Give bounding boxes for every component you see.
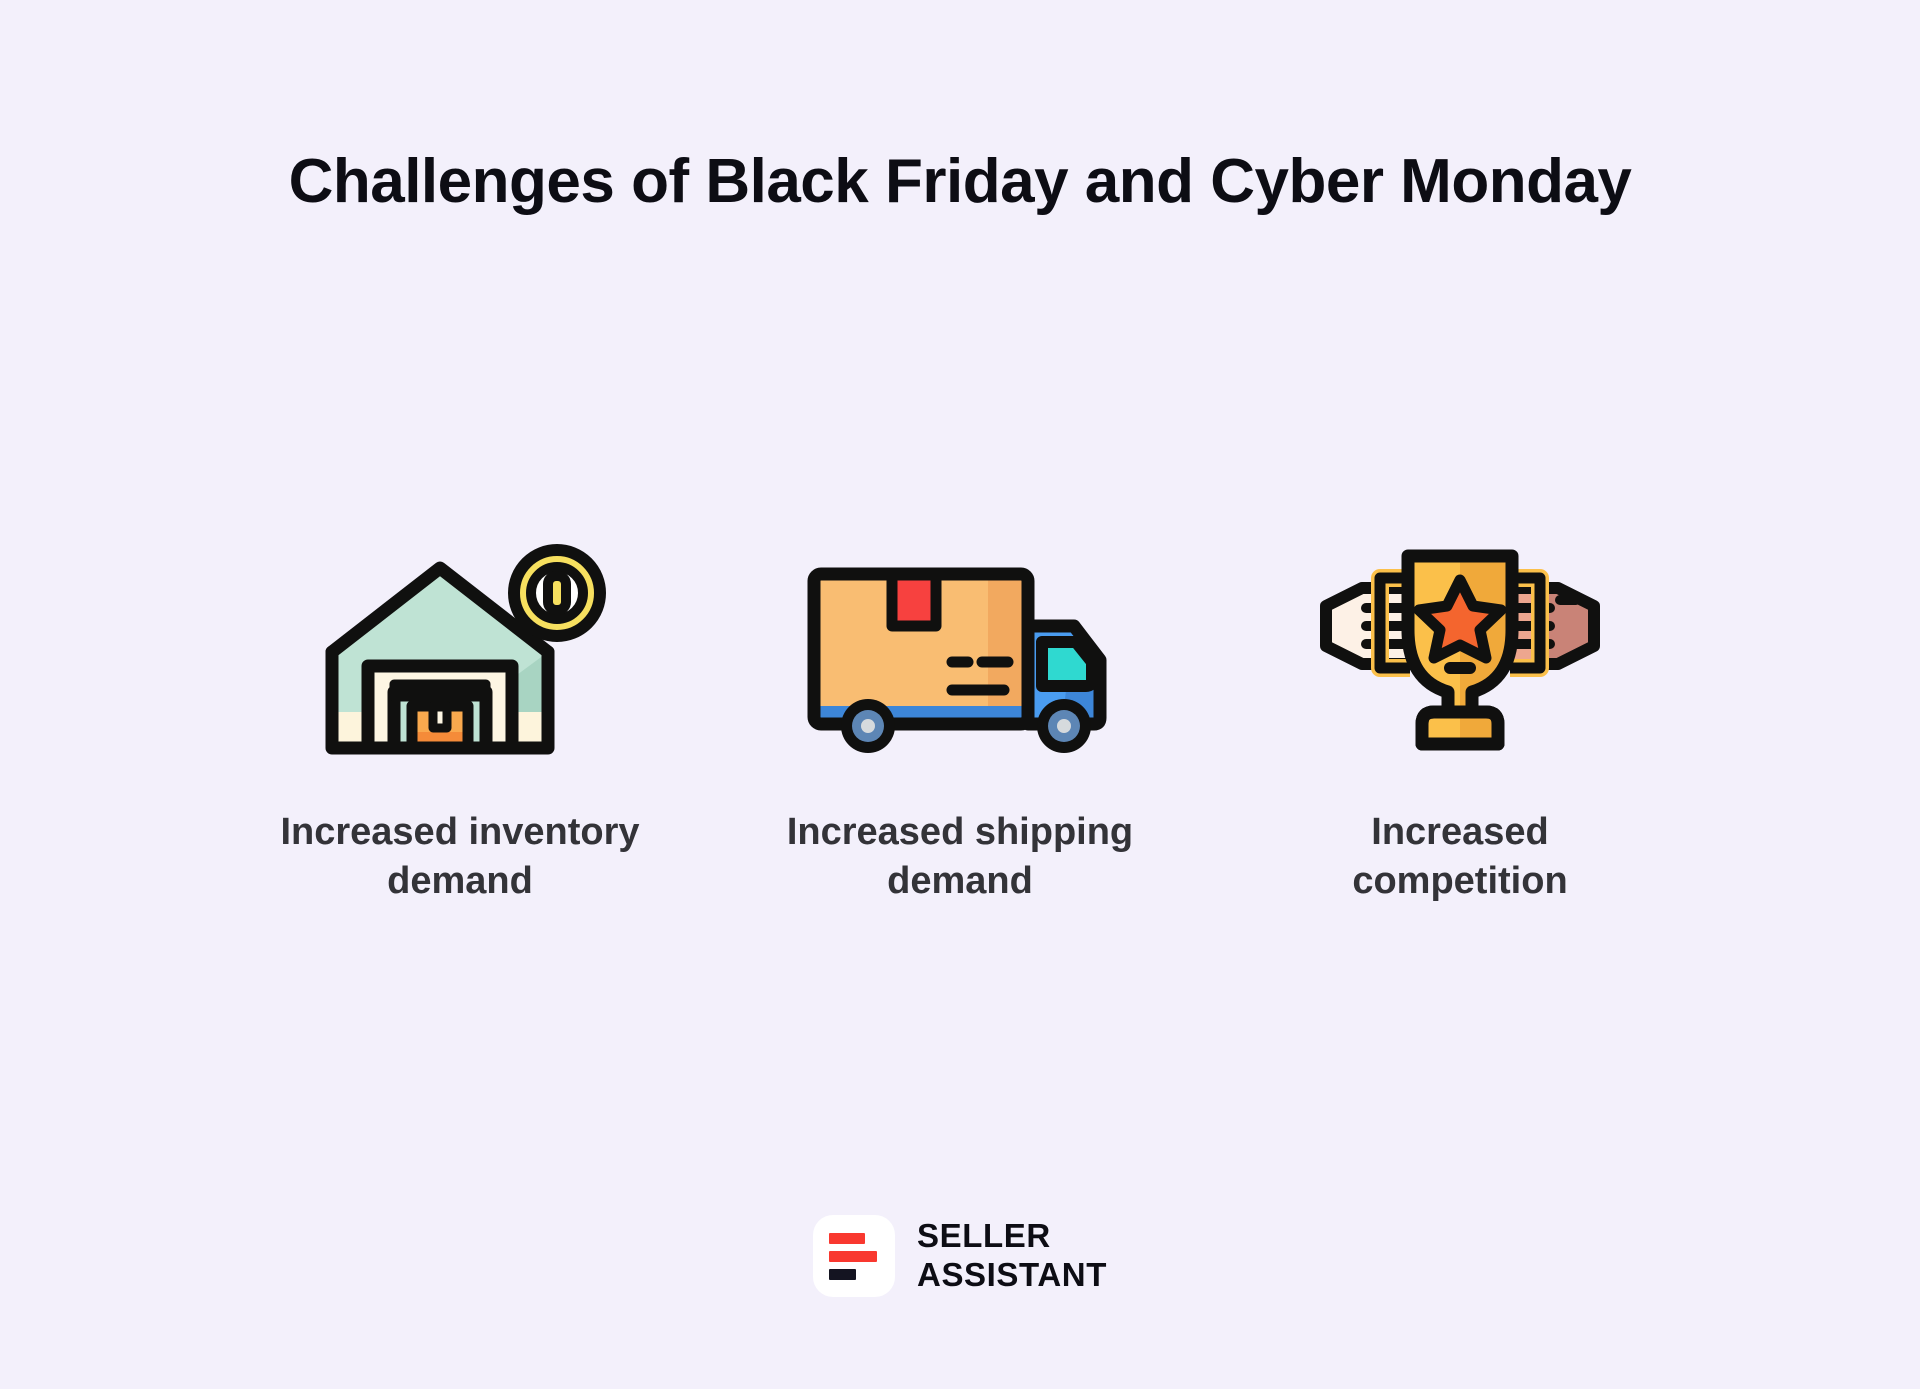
page-title: Challenges of Black Friday and Cyber Mon… — [0, 148, 1920, 216]
warehouse-coin-icon — [310, 540, 610, 760]
card-label-line2: competition — [1352, 860, 1567, 902]
cards-row: Increased inventory demand — [0, 540, 1920, 907]
logo-bar-top — [829, 1233, 865, 1244]
brand-name-line2: ASSISTANT — [917, 1256, 1107, 1295]
brand-footer: SELLER ASSISTANT — [0, 1215, 1920, 1297]
card-label-line2: demand — [387, 860, 533, 902]
logo-bar-middle — [829, 1251, 877, 1262]
card-label: Increased inventory demand — [280, 808, 639, 907]
logo-bar-bottom — [829, 1269, 856, 1280]
card-increased-inventory-demand: Increased inventory demand — [210, 540, 710, 907]
card-label: Increased shipping demand — [787, 808, 1133, 907]
delivery-truck-icon — [800, 540, 1120, 760]
infographic-page: Challenges of Black Friday and Cyber Mon… — [0, 0, 1920, 1389]
card-label-line1: Increased inventory — [280, 811, 639, 853]
card-label-line1: Increased — [1371, 811, 1548, 853]
trophy-hands-icon-wrap — [1310, 540, 1610, 760]
card-label-line1: Increased shipping — [787, 811, 1133, 853]
card-increased-shipping-demand: Increased shipping demand — [710, 540, 1210, 907]
card-label: Increased competition — [1352, 808, 1567, 907]
warehouse-coin-icon-wrap — [310, 540, 610, 760]
delivery-truck-icon-wrap — [800, 540, 1120, 760]
brand-name-line1: SELLER — [917, 1217, 1107, 1256]
card-increased-competition: Increased competition — [1210, 540, 1710, 907]
trophy-hands-icon — [1310, 540, 1610, 760]
seller-assistant-logo-icon — [813, 1215, 895, 1297]
brand-name: SELLER ASSISTANT — [917, 1217, 1107, 1295]
card-label-line2: demand — [887, 860, 1033, 902]
